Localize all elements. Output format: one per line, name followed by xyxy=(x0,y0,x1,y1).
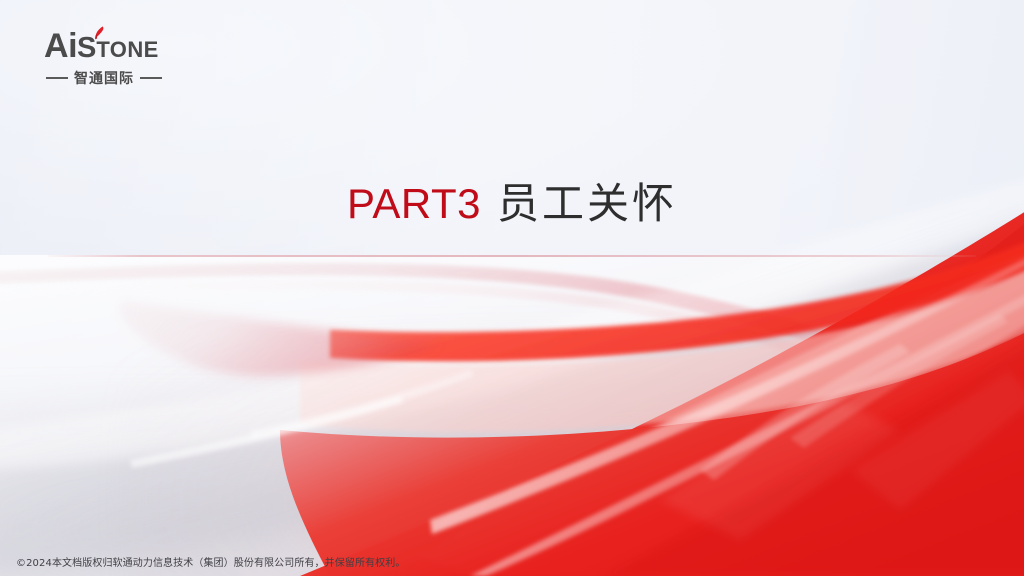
section-title: PART3员工关怀 xyxy=(347,182,677,226)
logo-wordmark: AiSTONE xyxy=(44,28,194,64)
section-title-cn-label: 员工关怀 xyxy=(497,179,677,228)
section-title-part-label: PART3 xyxy=(347,180,481,227)
logo-letters-tone: TONE xyxy=(96,37,158,62)
logo-dash-left xyxy=(46,77,68,79)
presentation-slide: AiSTONE 智通国际 PART3员工关怀 ©2024本文档版权归软通动力信息… xyxy=(0,0,1024,576)
logo-subtitle: 智通国际 xyxy=(74,68,134,88)
logo-subtitle-row: 智通国际 xyxy=(44,68,194,88)
logo-letter-i: i xyxy=(68,27,77,65)
logo-dash-right xyxy=(140,77,162,79)
title-divider-rule xyxy=(48,255,976,257)
flame-icon xyxy=(91,26,105,45)
footer-copyright: ©2024本文档版权归软通动力信息技术（集团）股份有限公司所有，并保留所有权利。 xyxy=(16,557,405,570)
aistone-logo[interactable]: AiSTONE 智通国际 xyxy=(44,28,194,88)
logo-letter-a: A xyxy=(44,27,68,65)
section-title-block: PART3员工关怀 xyxy=(0,182,1024,226)
